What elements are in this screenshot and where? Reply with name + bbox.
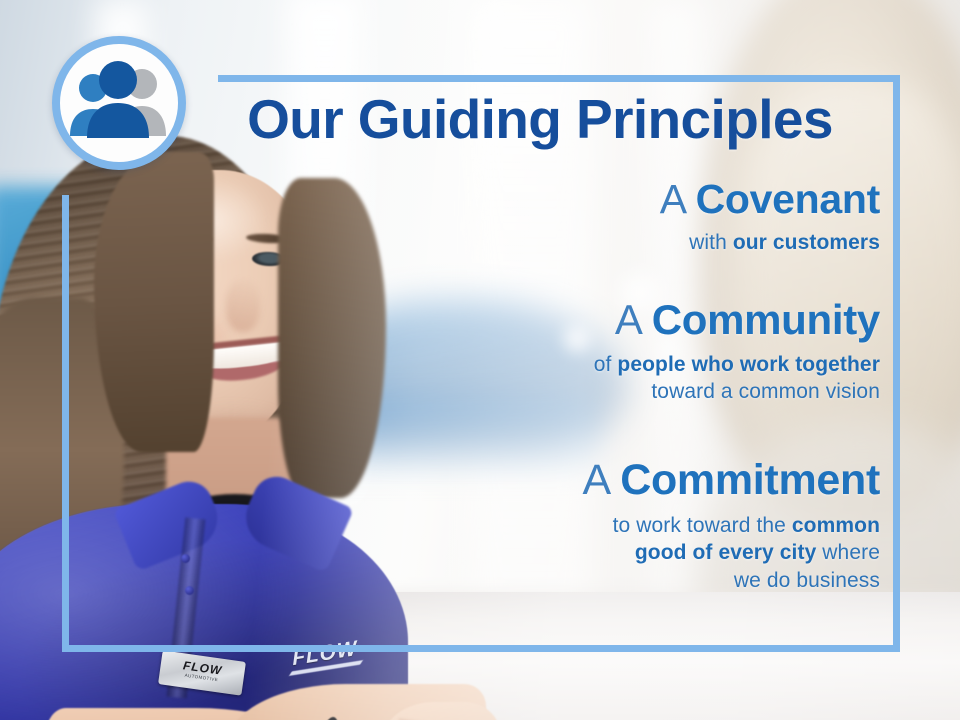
principle-subtext: to work toward the commongood of every c… bbox=[300, 512, 880, 594]
principle-lead: A bbox=[660, 176, 696, 222]
principle-commitment: A Commitment to work toward the commongo… bbox=[300, 458, 880, 594]
text-content: Our Guiding Principles A Covenant with o… bbox=[0, 0, 960, 720]
principle-title: A Community bbox=[300, 298, 880, 342]
principle-lead: A bbox=[583, 456, 621, 504]
principle-lead: A bbox=[615, 296, 652, 343]
principle-title: A Covenant bbox=[300, 178, 880, 221]
principle-covenant: A Covenant with our customers bbox=[300, 178, 880, 257]
page-title: Our Guiding Principles bbox=[210, 92, 870, 147]
principle-subtext: of people who work togethertoward a comm… bbox=[300, 351, 880, 406]
guiding-principles-banner: FLOW AUTOMOTIVE FLOW bbox=[0, 0, 960, 720]
principle-keyword: Covenant bbox=[696, 176, 880, 222]
principle-keyword: Community bbox=[652, 296, 880, 343]
principle-community: A Community of people who work togethert… bbox=[300, 298, 880, 406]
principle-keyword: Commitment bbox=[620, 456, 880, 504]
principle-subtext: with our customers bbox=[300, 230, 880, 256]
principle-title: A Commitment bbox=[300, 458, 880, 503]
